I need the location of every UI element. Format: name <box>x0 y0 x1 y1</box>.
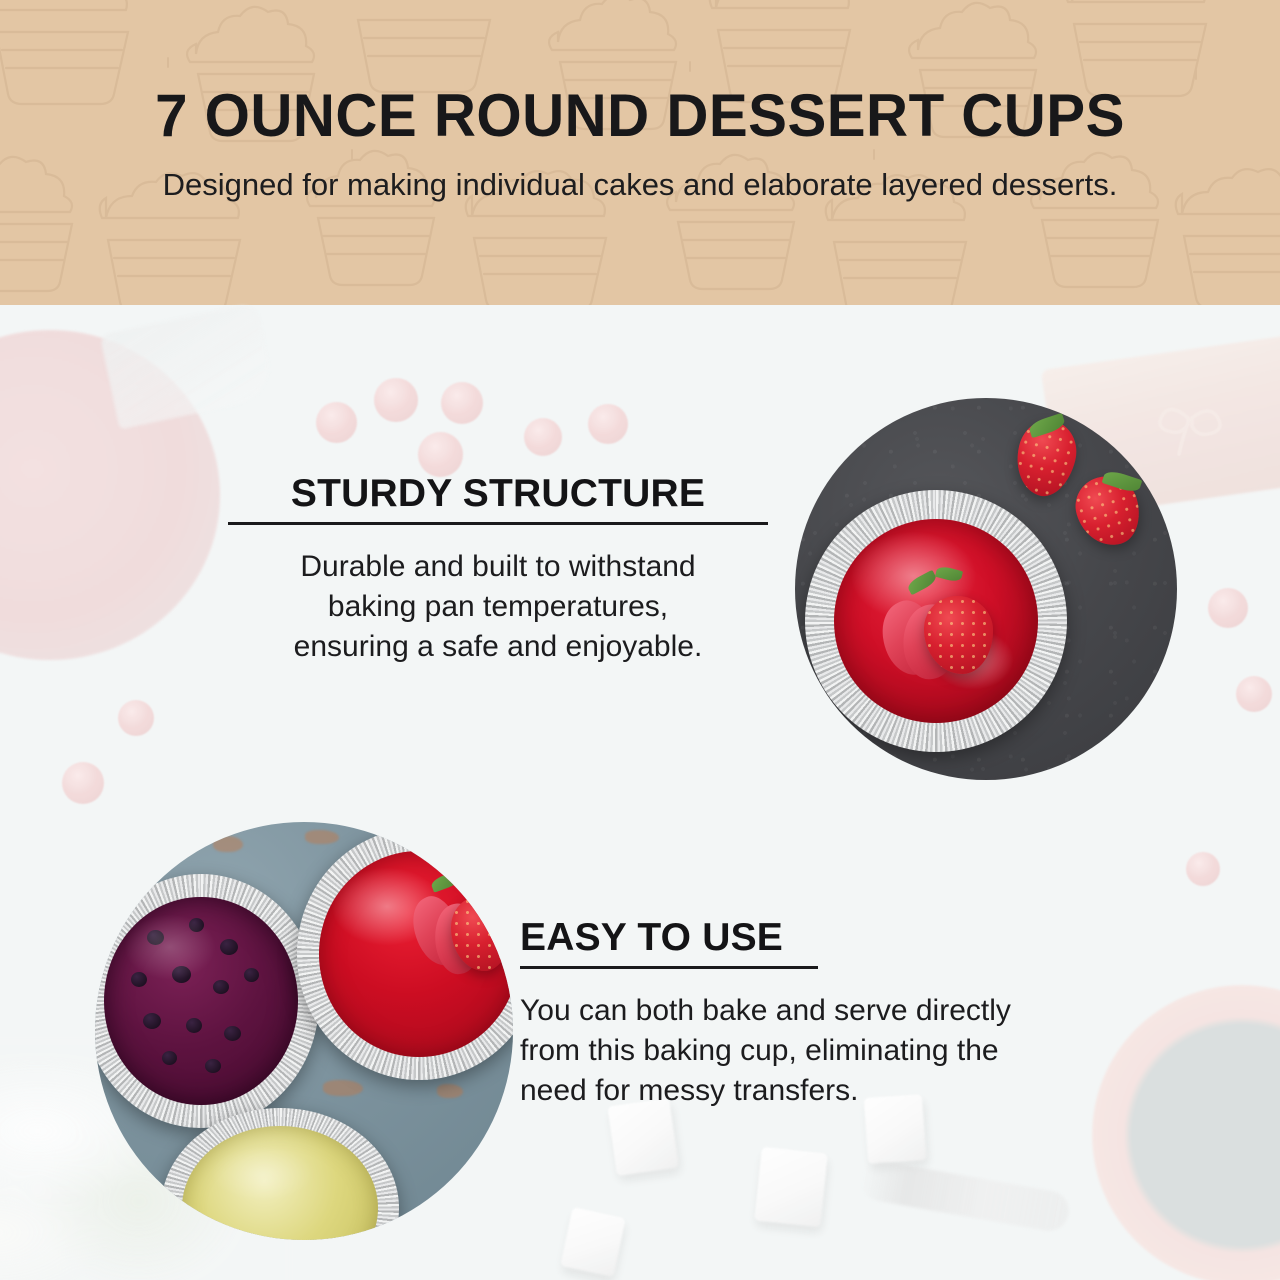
blueberry-filling <box>104 897 298 1105</box>
photo-strawberry-filled-dessert-cup <box>795 398 1177 780</box>
feature-body-line: ensuring a safe and enjoyable. <box>228 627 768 667</box>
photo-three-filled-dessert-cups <box>95 822 513 1240</box>
heading-underline <box>520 966 818 969</box>
lemon-filling <box>182 1126 377 1240</box>
feature-heading: STURDY STRUCTURE <box>228 474 768 515</box>
foil-cup-blueberry <box>95 874 319 1128</box>
feature-body-line: baking pan temperatures, <box>228 587 768 627</box>
strawberry-filling <box>834 519 1038 723</box>
sugar-cube-prop <box>754 1147 827 1227</box>
silver-spoon-prop <box>858 1158 1072 1234</box>
candy-ball-prop <box>118 700 154 736</box>
pink-sprinkle-jar-prop <box>0 330 220 660</box>
candy-ball-prop <box>1186 852 1220 886</box>
candy-ball-prop <box>418 432 463 477</box>
feature-easy-to-use: EASY TO USE You can both bake and serve … <box>520 918 1140 1111</box>
page-subtitle: Designed for making individual cakes and… <box>0 166 1280 203</box>
sugar-cube-prop <box>560 1207 625 1277</box>
candy-ball-prop <box>374 378 418 422</box>
candy-ball-prop <box>588 404 628 444</box>
strawberry-filling <box>319 851 513 1058</box>
header-band: 7 OUNCE ROUND DESSERT CUPS Designed for … <box>0 0 1280 305</box>
cupcake-pattern-icon <box>0 0 1280 305</box>
feature-body-line: Durable and built to withstand <box>228 547 768 587</box>
feature-body-line: You can both bake and serve directly <box>520 991 1140 1031</box>
page-title: 7 OUNCE ROUND DESSERT CUPS <box>19 86 1261 146</box>
feature-body-line: from this baking cup, eliminating the <box>520 1031 1140 1071</box>
candy-ball-prop <box>524 418 562 456</box>
candy-ball-prop <box>441 382 483 424</box>
product-infographic: 7 OUNCE ROUND DESSERT CUPS Designed for … <box>0 0 1280 1280</box>
feature-body: You can both bake and serve directly fro… <box>520 991 1140 1111</box>
candy-ball-prop <box>62 762 104 804</box>
feature-heading: EASY TO USE <box>520 918 1140 959</box>
feature-body: Durable and built to withstand baking pa… <box>228 547 768 667</box>
jar-lid-prop <box>100 302 276 429</box>
feature-body-line: need for messy transfers. <box>520 1071 1140 1111</box>
mint-leaf <box>430 871 463 893</box>
foil-dessert-cup <box>805 490 1067 752</box>
foil-cup-strawberry <box>297 828 513 1080</box>
candy-ball-prop <box>1208 588 1248 628</box>
feature-sturdy-structure: STURDY STRUCTURE Durable and built to wi… <box>228 474 768 667</box>
heading-underline <box>228 522 768 525</box>
candy-ball-prop <box>1236 676 1272 712</box>
mint-leaf <box>458 866 486 885</box>
candy-ball-prop <box>316 402 357 443</box>
